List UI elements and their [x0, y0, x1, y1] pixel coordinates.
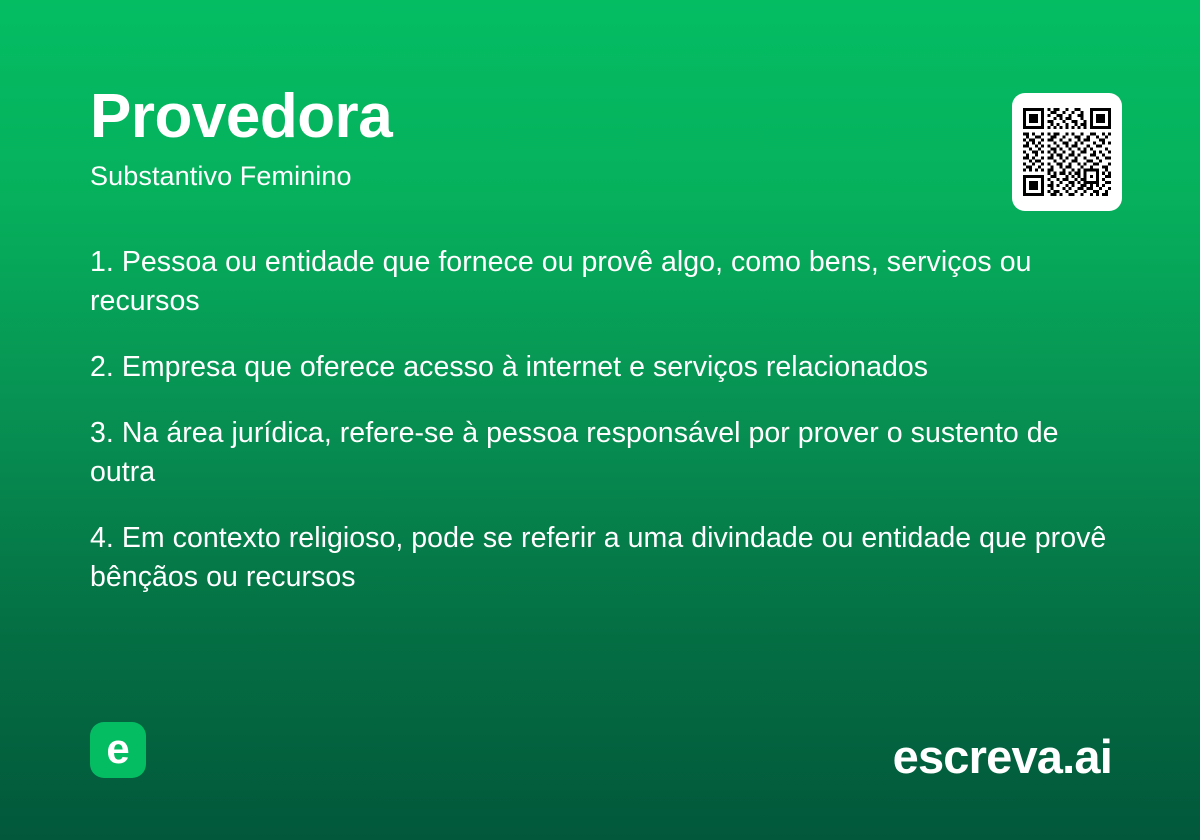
- escreva-logo-mark[interactable]: e: [90, 722, 146, 778]
- definition-item: 1. Pessoa ou entidade que fornece ou pro…: [90, 243, 1110, 321]
- logo-letter: e: [106, 728, 129, 770]
- page-title: Provedora: [90, 86, 970, 148]
- dictionary-card: Provedora Substantivo Feminino: [0, 0, 1200, 840]
- word-class-label: Substantivo Feminino: [90, 162, 970, 192]
- qr-code-card[interactable]: [1012, 93, 1122, 211]
- qr-code-icon: [1023, 108, 1111, 196]
- card-header: Provedora Substantivo Feminino: [90, 86, 970, 192]
- definition-item: 3. Na área jurídica, refere-se à pessoa …: [90, 414, 1110, 492]
- definition-item: 2. Empresa que oferece acesso à internet…: [90, 348, 1110, 387]
- definition-item: 4. Em contexto religioso, pode se referi…: [90, 519, 1110, 597]
- definition-list: 1. Pessoa ou entidade que fornece ou pro…: [90, 243, 1110, 597]
- brand-wordmark: escreva.ai: [893, 733, 1112, 780]
